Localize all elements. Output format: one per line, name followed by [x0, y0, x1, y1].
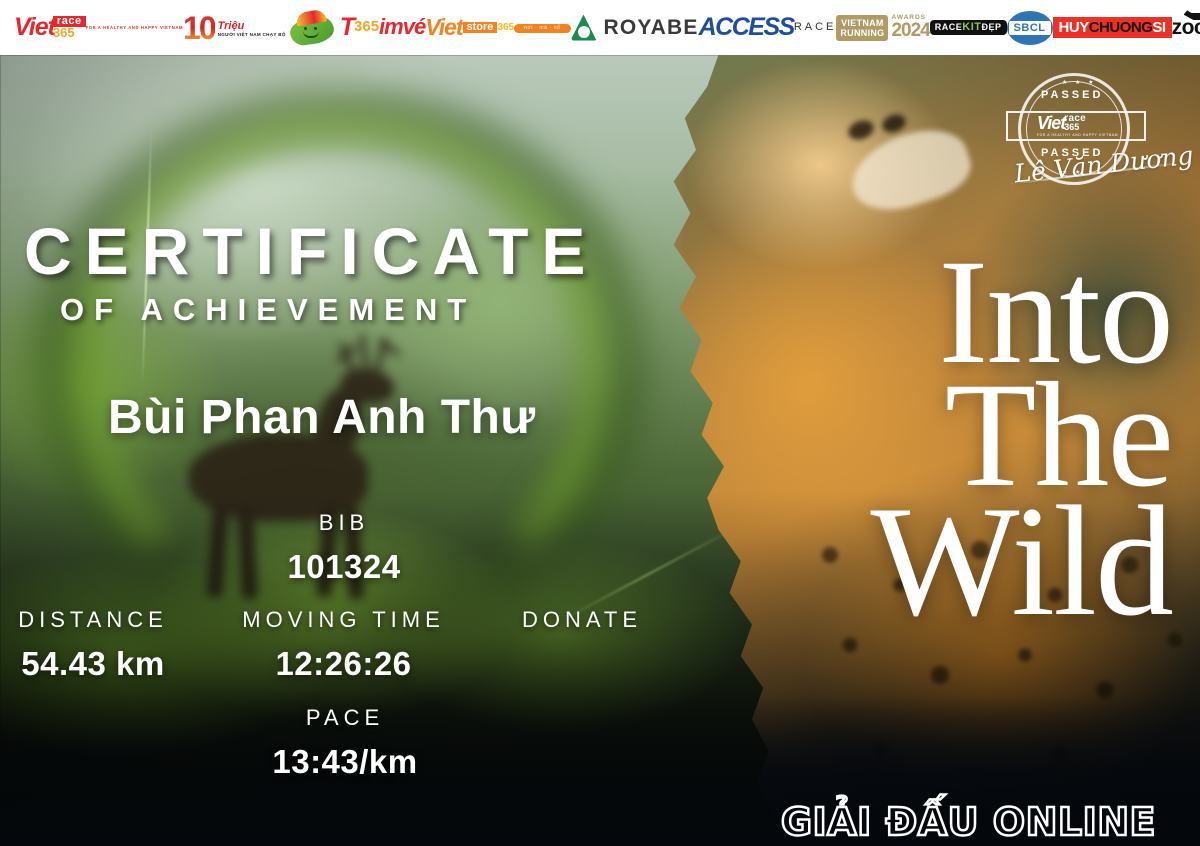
certificate-title: CERTIFICATE [24, 213, 598, 289]
stat-distance-value: 54.43 km [0, 645, 186, 683]
stat-pace-label: PACE [230, 705, 460, 731]
stamp-brand-num: 365 [1064, 123, 1086, 131]
approval-stamp: ★ ★ ★ PASSED PASSED ★ ★ ★ Viet race 365 … [1006, 73, 1156, 191]
sponsor-logo-vietrace365[interactable]: Viet race 365 FOR A HEALTHY AND HAPPY VI… [14, 15, 183, 40]
stamp-stars-top: ★ ★ ★ [1062, 79, 1096, 86]
vra-year: 2024 [891, 21, 929, 40]
sponsor-logo-bar: Viet race 365 FOR A HEALTHY AND HAPPY VI… [0, 0, 1200, 55]
event-title: Into The Wild [870, 251, 1172, 627]
hcs-b: CHUONG [1089, 19, 1153, 36]
vietrace-word: Viet [14, 15, 55, 40]
athlete-name: Bùi Phan Anh Thư [108, 390, 536, 445]
stat-moving-time-value: 12:26:26 [216, 645, 471, 683]
timve-word: imvé [379, 17, 425, 38]
certificate-canvas: CERTIFICATE OF ACHIEVEMENT Bùi Phan Anh … [0, 55, 1200, 846]
sponsor-logo-vietstore365[interactable]: Vietstore 365 nơi · mà · nổ [425, 16, 570, 39]
vietrace-tagline: FOR A HEALTHY AND HAPPY VIETNAM [86, 26, 183, 30]
rkd-line1: RACE [935, 23, 963, 32]
stamp-passed-top: PASSED [1041, 89, 1103, 101]
hcs-c: SI [1152, 19, 1165, 36]
sponsor-logo-sbcl[interactable]: SBCL [1007, 11, 1053, 45]
stat-bib-value: 101324 [254, 548, 434, 586]
trieu-number: 10 [183, 12, 215, 44]
access-race-word: RACE [794, 22, 837, 33]
sponsor-logo-vietnam-running-awards[interactable]: VIETNAM RUNNING AWARDS 2024 [836, 15, 929, 41]
vra-line1: VIETNAM [840, 18, 884, 28]
event-tagline: GIẢI ĐẤU ONLINE [781, 800, 1156, 844]
stamp-brand-tagline: FOR A HEALTHY AND HAPPY VIETNAM [1037, 134, 1118, 137]
sponsor-logo-access-race[interactable]: ACCESS RACE [699, 15, 837, 40]
stat-distance-label: DISTANCE [0, 607, 186, 633]
smile-icon [303, 31, 319, 38]
rkd-line3: ĐẸP [982, 23, 1002, 32]
sponsor-logo-timve365[interactable]: T365 imvé [340, 16, 425, 40]
event-title-line3: Wild [870, 497, 1172, 627]
stat-bib: BIB 101324 [254, 510, 434, 586]
rkd-line2: KIT [962, 23, 981, 32]
access-word: ACCESS [699, 15, 794, 40]
trieu-script: Triệu [218, 20, 245, 32]
royabe-label: ROYABE [604, 16, 699, 40]
sponsor-logo-race-kit-dep[interactable]: RACE KIT ĐẸP [930, 20, 1007, 35]
stat-moving-time-label: MOVING TIME [216, 607, 471, 633]
zocker-label: zocker [1172, 17, 1200, 38]
sponsor-logo-zocker[interactable]: zocker [1172, 17, 1200, 38]
vietstore-365: 365 [497, 23, 514, 33]
certificate-subtitle: OF ACHIEVEMENT [60, 292, 476, 328]
stat-pace: PACE 13:43/km [230, 705, 460, 781]
certificate-page: Viet race 365 FOR A HEALTHY AND HAPPY VI… [0, 0, 1200, 846]
sponsor-logo-10-trieu[interactable]: 10 Triệu NGƯỜI VIỆT NAM CHẠY BỘ [183, 12, 286, 44]
stat-donate: DONATE [492, 607, 672, 645]
stat-distance: DISTANCE 54.43 km [0, 607, 186, 683]
stamp-brand-bar: Viet race 365 FOR A HEALTHY AND HAPPY VI… [1006, 111, 1146, 141]
eye-icon [304, 27, 307, 30]
trieu-sub: NGƯỜI VIỆT NAM CHẠY BỘ [218, 33, 286, 38]
vra-line2: RUNNING [840, 28, 884, 38]
stat-pace-value: 13:43/km [230, 743, 460, 781]
stat-moving-time: MOVING TIME 12:26:26 [216, 607, 471, 683]
vietstore-pill: nơi · mà · nổ [514, 24, 570, 33]
sponsor-logo-smile-leaf[interactable] [286, 11, 340, 45]
vietstore-word: Viet [425, 16, 462, 39]
vietrace-365: 365 [53, 26, 86, 39]
stat-bib-label: BIB [254, 510, 434, 536]
royabe-mark-icon [571, 15, 597, 41]
eye-icon [314, 27, 317, 30]
hcs-a: HUY [1059, 19, 1089, 36]
sponsor-logo-royabe[interactable]: ROYABE [571, 15, 699, 41]
vietstore-badge: store [463, 22, 498, 33]
sponsor-logo-huy-chuong-si[interactable]: HUYCHUONGSI [1053, 17, 1172, 38]
timve-t: T [340, 16, 354, 40]
stat-donate-label: DONATE [492, 607, 672, 633]
sbcl-label: SBCL [1009, 21, 1051, 35]
timve-365: 365 [354, 20, 379, 34]
stamp-brand-word: Viet [1037, 114, 1065, 132]
